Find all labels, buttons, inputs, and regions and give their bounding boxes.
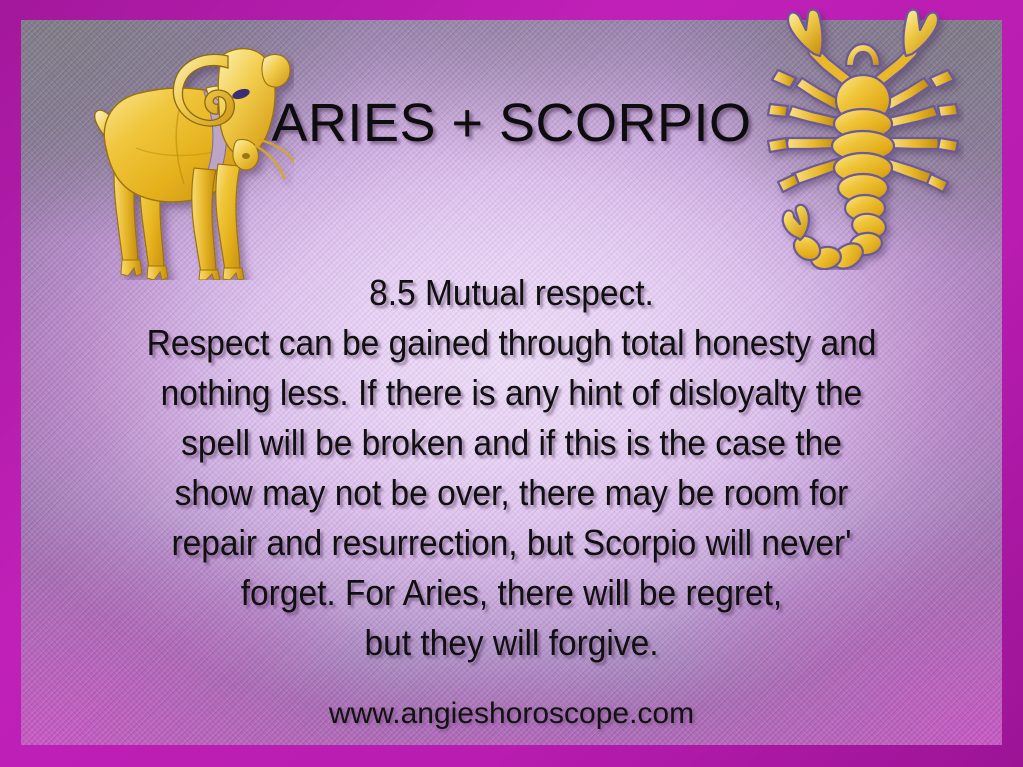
- website-url: www.angieshoroscope.com: [0, 699, 1023, 729]
- body-line: nothing less. If there is any hint of di…: [92, 368, 932, 418]
- body-line: repair and resurrection, but Scorpio wil…: [92, 518, 932, 568]
- aries-ram-icon: [78, 28, 294, 280]
- body-line: forget. For Aries, there will be regret,: [92, 568, 932, 618]
- body-line: spell will be broken and if this is the …: [92, 418, 932, 468]
- horoscope-card: ARIES + SCORPIO 8.5 Mutual respect. Resp…: [0, 0, 1023, 767]
- page-title: ARIES + SCORPIO: [0, 96, 1023, 150]
- body-line: show may not be over, there may be room …: [92, 468, 932, 518]
- body-line: 8.5 Mutual respect.: [92, 268, 932, 318]
- body-line: but they will forgive.: [92, 618, 932, 668]
- horoscope-body: 8.5 Mutual respect. Respect can be gaine…: [92, 268, 932, 668]
- body-line: Respect can be gained through total hone…: [92, 318, 932, 368]
